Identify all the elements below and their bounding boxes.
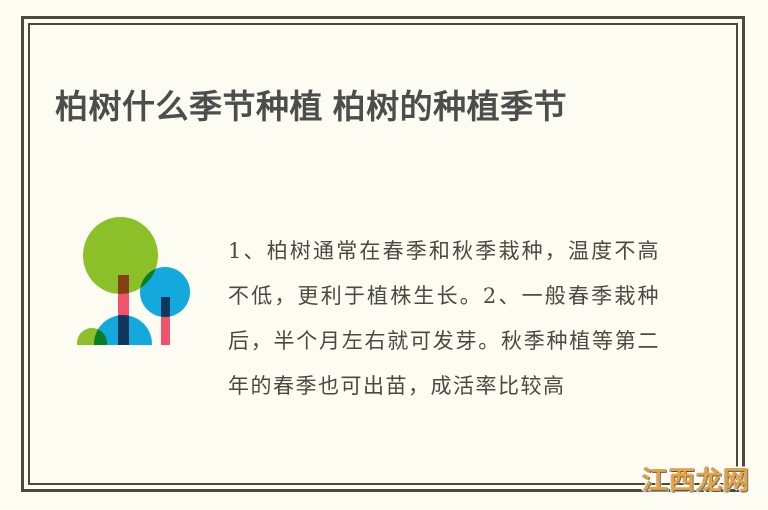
tree-illustration [75, 215, 195, 347]
article-card: 柏树什么季节种植 柏树的种植季节 1、柏树通常在春季和秋季栽种，温度不高不低，更… [0, 0, 768, 510]
small-tree-crown-icon [140, 267, 190, 317]
article-body: 1、柏树通常在春季和秋季栽种，温度不高不低，更利于植株生长。2、一般春季栽种后，… [228, 229, 660, 469]
page-title: 柏树什么季节种植 柏树的种植季节 [55, 84, 680, 130]
site-watermark: 江西龙网 [642, 460, 750, 497]
